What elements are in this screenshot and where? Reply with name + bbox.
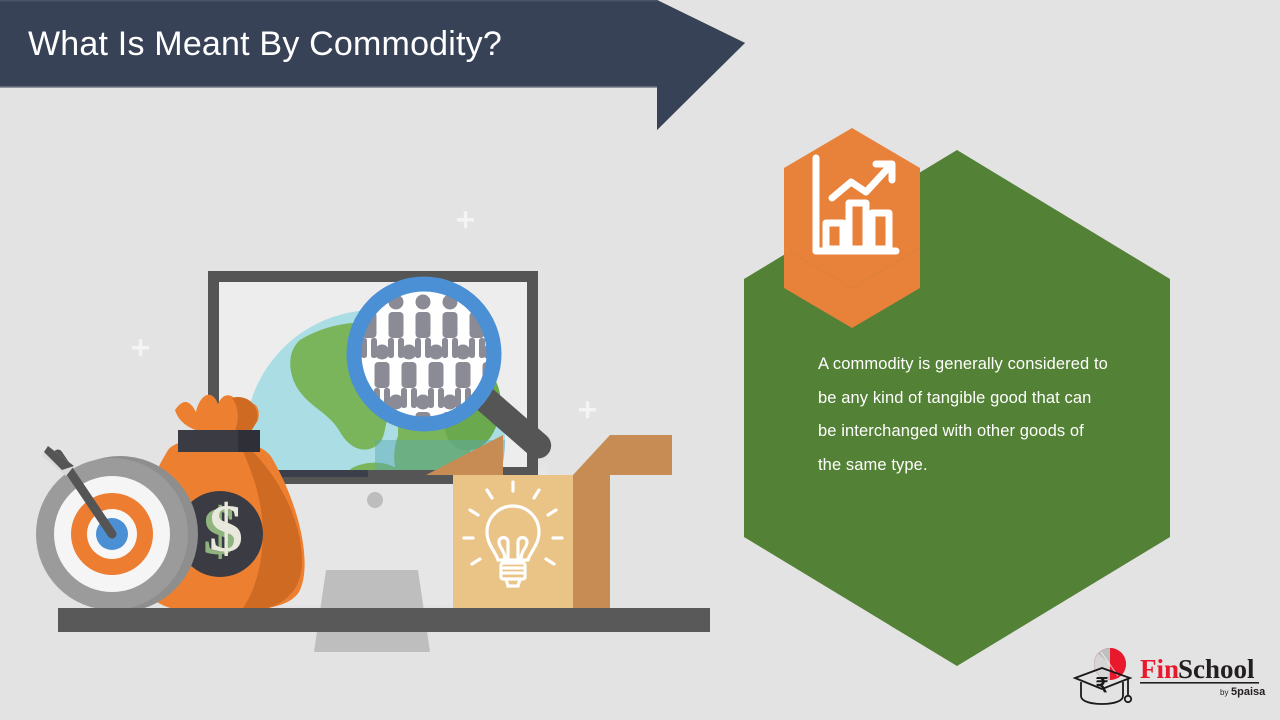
money-bag-tie-shade — [238, 430, 260, 452]
title-banner-edge-bottom — [0, 87, 657, 89]
logo-tagline-prefix: by — [1220, 688, 1228, 697]
page-title: What Is Meant By Commodity? — [28, 16, 668, 72]
illustration: $ $ — [0, 150, 760, 670]
box-side-right-2 — [573, 475, 610, 609]
callout-body-text: A commodity is generally considered to b… — [818, 348, 1108, 482]
logo-underline — [1140, 682, 1259, 684]
logo-school-text: School — [1178, 654, 1255, 684]
plus-icon-2 — [132, 339, 149, 356]
ground-bar — [58, 608, 710, 632]
cardboard-box — [426, 435, 672, 609]
title-banner-edge-top — [0, 0, 657, 2]
rupee-symbol: ₹ — [1096, 675, 1109, 697]
monitor-power-dot — [367, 492, 383, 508]
title-banner: What Is Meant By Commodity? — [0, 0, 760, 140]
box-flap-right-b — [610, 435, 672, 475]
slide-canvas: What Is Meant By Commodity? — [0, 0, 1280, 720]
logo-fin-text: Fin — [1140, 654, 1179, 684]
finschool-logo[interactable]: ₹ Fin School by 5paisa — [1068, 646, 1268, 708]
plus-icon-1 — [457, 211, 474, 228]
dollar-sign-icon: $ $ — [203, 490, 243, 569]
svg-text:$: $ — [209, 490, 243, 566]
box-front — [453, 475, 573, 609]
callout-hexagon-group: A commodity is generally considered to b… — [720, 120, 1200, 680]
plus-icon-3 — [579, 401, 596, 418]
logo-tagline: 5paisa — [1231, 686, 1266, 698]
